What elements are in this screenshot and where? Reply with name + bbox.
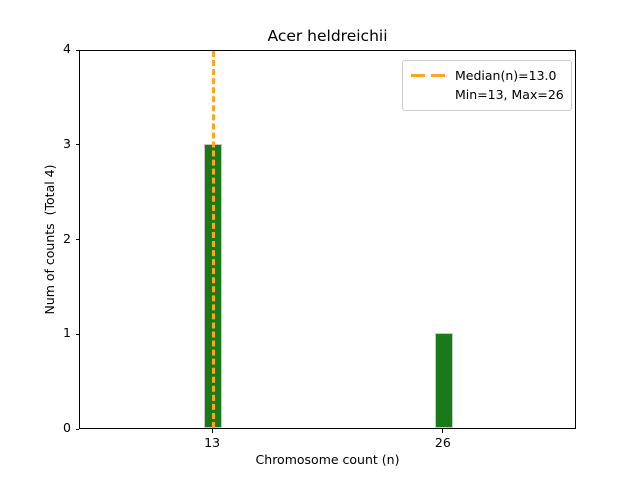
legend-label-minmax: Min=13, Max=26 [455, 87, 564, 102]
tick-mark [76, 334, 80, 335]
legend-item-median: Median(n)=13.0 [410, 66, 564, 85]
y-tick-label: 4 [63, 41, 71, 56]
median-line [212, 51, 215, 428]
y-tick-label: 2 [63, 231, 71, 246]
tick-mark [76, 50, 80, 51]
tick-mark [76, 429, 80, 430]
y-tick-label: 0 [63, 420, 71, 435]
legend-label-median: Median(n)=13.0 [455, 68, 556, 83]
tick-mark [212, 429, 213, 433]
bar [435, 333, 453, 428]
tick-mark [76, 239, 80, 240]
x-tick-label: 13 [172, 435, 252, 450]
x-tick-label: 26 [403, 435, 483, 450]
dashed-line-icon [410, 69, 446, 83]
tick-mark [76, 144, 80, 145]
x-axis-label: Chromosome count (n) [79, 452, 576, 467]
chart-title: Acer heldreichii [79, 27, 576, 45]
tick-mark [442, 429, 443, 433]
y-axis-label: Num of counts (Total 4) [41, 50, 59, 429]
chart-legend: Median(n)=13.0 Min=13, Max=26 [402, 60, 572, 111]
y-tick-label: 3 [63, 136, 71, 151]
legend-item-minmax: Min=13, Max=26 [410, 85, 564, 104]
matplotlib-figure: Acer heldreichii 01234 1326 Chromosome c… [0, 0, 640, 480]
y-tick-label: 1 [63, 325, 71, 340]
